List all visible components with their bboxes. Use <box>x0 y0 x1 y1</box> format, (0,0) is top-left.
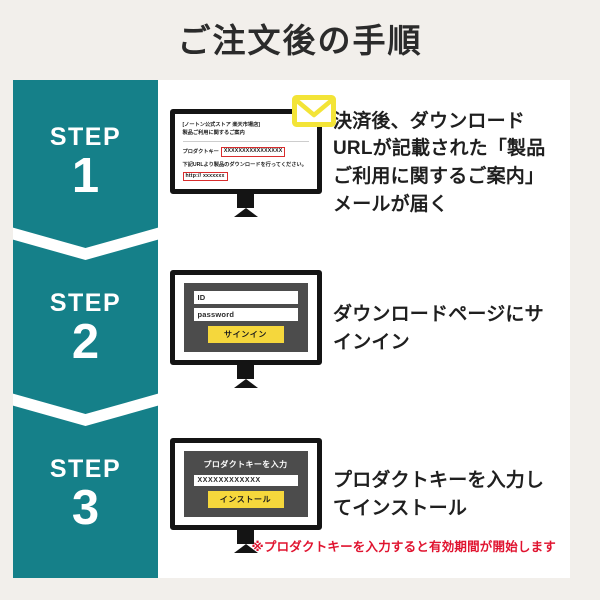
monitor-bezel: プロダクトキーを入力 XXXXXXXXXXXX インストール <box>170 438 322 530</box>
step-rail-item-2: STEP 2 <box>13 246 158 412</box>
content-card: STEP 1 STEP 2 STEP 3 <box>13 80 570 578</box>
monitor-base <box>234 379 258 388</box>
step-number-2: 2 <box>72 318 99 367</box>
install-button[interactable]: インストール <box>208 491 284 508</box>
envelope-icon <box>292 95 336 127</box>
email-subject-line-1: [ノートン公式ストア 楽天市場店] <box>183 121 309 129</box>
monitor-neck <box>237 194 254 208</box>
monitor-base <box>234 208 258 217</box>
email-download-note: 下記URLより製品のダウンロードを行ってください。 <box>183 161 309 169</box>
signin-button[interactable]: サインイン <box>208 326 284 343</box>
email-download-url: http:// xxxxxxx <box>183 172 228 182</box>
monitor-email-graphic: [ノートン公式ストア 楽天市場店] 製品ご利用に関するご案内 プロダクトキー X… <box>170 109 322 218</box>
product-key-input[interactable]: XXXXXXXXXXXX <box>194 475 298 486</box>
monitor-bezel: ID password サインイン <box>170 270 322 365</box>
step-1-illustration: [ノートン公式ストア 楽天市場店] 製品ご利用に関するご案内 プロダクトキー X… <box>158 109 333 218</box>
step-label-1: STEP <box>50 125 121 150</box>
step-row-2: ID password サインイン ダウンロードページにサインイン <box>158 246 570 412</box>
step-rows: [ノートン公式ストア 楽天市場店] 製品ご利用に関するご案内 プロダクトキー X… <box>158 80 570 578</box>
step-label-3: STEP <box>50 457 121 482</box>
page-title: ご注文後の手順 <box>0 14 600 62</box>
email-product-key-label: プロダクトキー <box>183 148 219 156</box>
id-field[interactable]: ID <box>194 291 298 304</box>
email-product-key-line: プロダクトキー XXXXXXXXXXXXXXXX <box>183 147 309 157</box>
footnote-note: ※プロダクトキーを入力すると有効期間が開始します <box>158 536 562 555</box>
step-row-1: [ノートン公式ストア 楽天市場店] 製品ご利用に関するご案内 プロダクトキー X… <box>158 80 570 246</box>
step-rail-item-3: STEP 3 <box>13 412 158 578</box>
step-2-description: ダウンロードページにサインイン <box>333 301 570 356</box>
step-2-illustration: ID password サインイン <box>158 270 333 388</box>
product-key-prompt: プロダクトキーを入力 <box>194 459 298 470</box>
step-1-description: 決済後、ダウンロードURLが記載された「製品ご利用に関するご案内」メールが届く <box>333 108 570 218</box>
email-divider <box>183 141 309 142</box>
step-number-1: 1 <box>72 152 99 201</box>
signin-screen: ID password サインイン <box>184 283 308 352</box>
email-product-key-value: XXXXXXXXXXXXXXXX <box>221 147 286 157</box>
password-field[interactable]: password <box>194 308 298 321</box>
step-rail: STEP 1 STEP 2 STEP 3 <box>13 80 158 578</box>
email-subject-line-2: 製品ご利用に関するご案内 <box>183 129 309 137</box>
monitor-signin-graphic: ID password サインイン <box>170 270 322 388</box>
install-screen: プロダクトキーを入力 XXXXXXXXXXXX インストール <box>184 451 308 517</box>
page-root: ご注文後の手順 STEP 1 STEP 2 STEP 3 <box>0 0 600 600</box>
step-3-description: プロダクトキーを入力してインストール <box>333 467 570 522</box>
step-label-2: STEP <box>50 291 121 316</box>
step-number-3: 3 <box>72 484 99 533</box>
step-rail-item-1: STEP 1 <box>13 80 158 246</box>
monitor-neck <box>237 365 254 379</box>
